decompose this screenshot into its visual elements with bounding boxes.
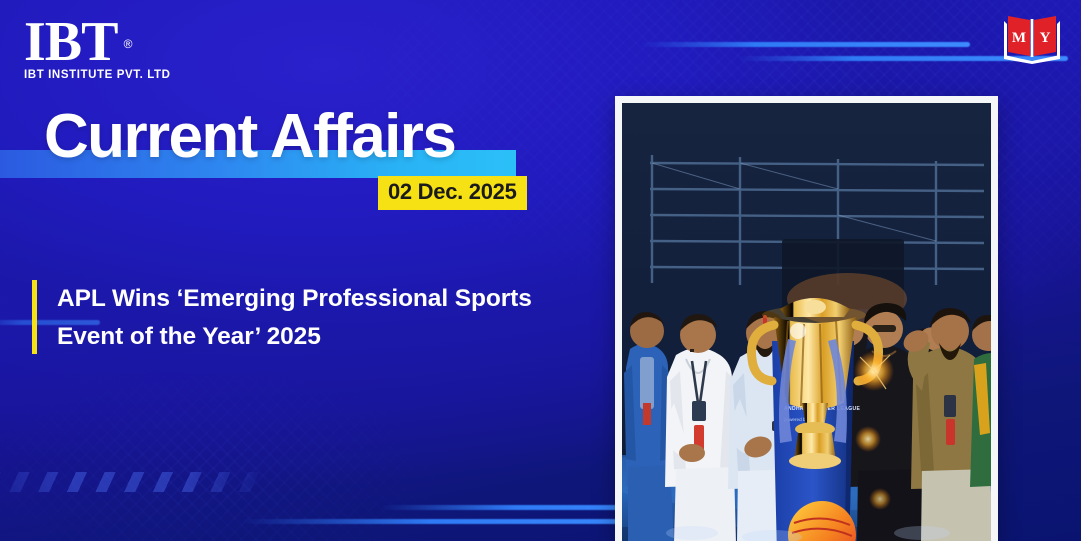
registered-trademark-icon: ®	[124, 18, 132, 70]
decorative-stripe	[640, 42, 970, 47]
headline-line-2: Event of the Year’ 2025	[57, 318, 532, 356]
my-book-logo: M Y	[1001, 12, 1063, 64]
ibt-wordmark-text: IBT	[24, 11, 118, 73]
my-logo-letter-y: Y	[1040, 30, 1051, 46]
page-title: Current Affairs	[44, 103, 455, 171]
open-book-icon: M Y	[1001, 12, 1063, 64]
my-logo-letter-m: M	[1012, 30, 1026, 46]
decorative-dashed-stripes	[0, 472, 270, 492]
date-badge: 02 Dec. 2025	[378, 176, 527, 210]
ibt-wordmark-icon: IBT ®	[24, 16, 118, 68]
headline-line-1: APL Wins ‘Emerging Professional Sports	[57, 280, 532, 318]
ibt-logo: IBT ® IBT INSTITUTE PVT. LTD	[24, 16, 234, 81]
background-diamond-pattern-secondary	[0, 340, 580, 541]
headline-block: APL Wins ‘Emerging Professional Sports E…	[32, 280, 572, 356]
current-affairs-banner: IBT ® IBT INSTITUTE PVT. LTD M Y Current…	[0, 0, 1081, 541]
news-photo-illustration: GMR APL ANDHRA PREMIER LEAGUE powered by…	[622, 103, 991, 541]
news-photo: GMR APL ANDHRA PREMIER LEAGUE powered by…	[622, 103, 991, 541]
headline-accent-bar	[32, 280, 37, 354]
news-photo-frame: GMR APL ANDHRA PREMIER LEAGUE powered by…	[615, 96, 998, 541]
person-partial-right	[970, 315, 991, 487]
headline-text: APL Wins ‘Emerging Professional Sports E…	[57, 280, 532, 356]
